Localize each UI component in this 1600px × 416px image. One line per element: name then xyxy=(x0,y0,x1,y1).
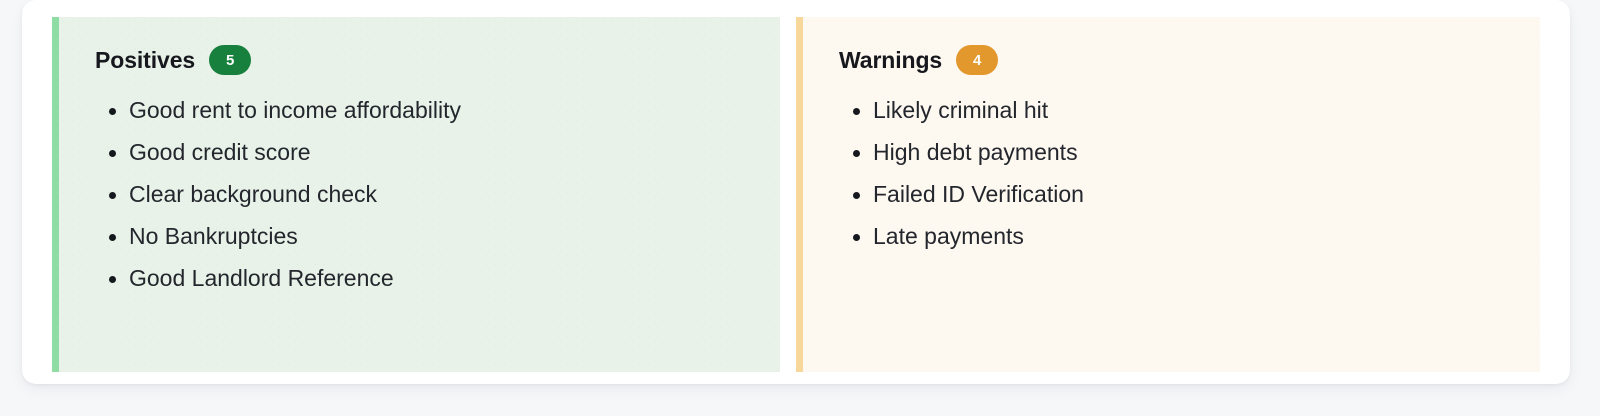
list-item: Failed ID Verification xyxy=(839,183,1540,206)
warnings-card-content: Warnings 4 Likely criminal hit High debt… xyxy=(803,17,1540,248)
list-item: Good Landlord Reference xyxy=(95,267,780,290)
list-item: High debt payments xyxy=(839,141,1540,164)
list-item: Likely criminal hit xyxy=(839,99,1540,122)
list-item: Good rent to income affordability xyxy=(95,99,780,122)
list-item: Late payments xyxy=(839,225,1540,248)
positives-list: Good rent to income affordability Good c… xyxy=(95,99,780,290)
warnings-card: Warnings 4 Likely criminal hit High debt… xyxy=(796,17,1540,372)
screening-summary-page: Positives 5 Good rent to income affordab… xyxy=(0,0,1600,416)
list-item: No Bankruptcies xyxy=(95,225,780,248)
warnings-list: Likely criminal hit High debt payments F… xyxy=(839,99,1540,248)
summary-cards-row: Positives 5 Good rent to income affordab… xyxy=(52,17,1540,372)
positives-count-badge: 5 xyxy=(209,45,251,75)
warnings-card-header: Warnings 4 xyxy=(839,43,1540,77)
list-item: Good credit score xyxy=(95,141,780,164)
positives-card-header: Positives 5 xyxy=(95,43,780,77)
positives-card: Positives 5 Good rent to income affordab… xyxy=(52,17,780,372)
warnings-count-badge: 4 xyxy=(956,45,998,75)
positives-title: Positives xyxy=(95,49,195,72)
summary-panel: Positives 5 Good rent to income affordab… xyxy=(22,0,1570,384)
warnings-title: Warnings xyxy=(839,49,942,72)
list-item: Clear background check xyxy=(95,183,780,206)
positives-card-content: Positives 5 Good rent to income affordab… xyxy=(59,17,780,290)
